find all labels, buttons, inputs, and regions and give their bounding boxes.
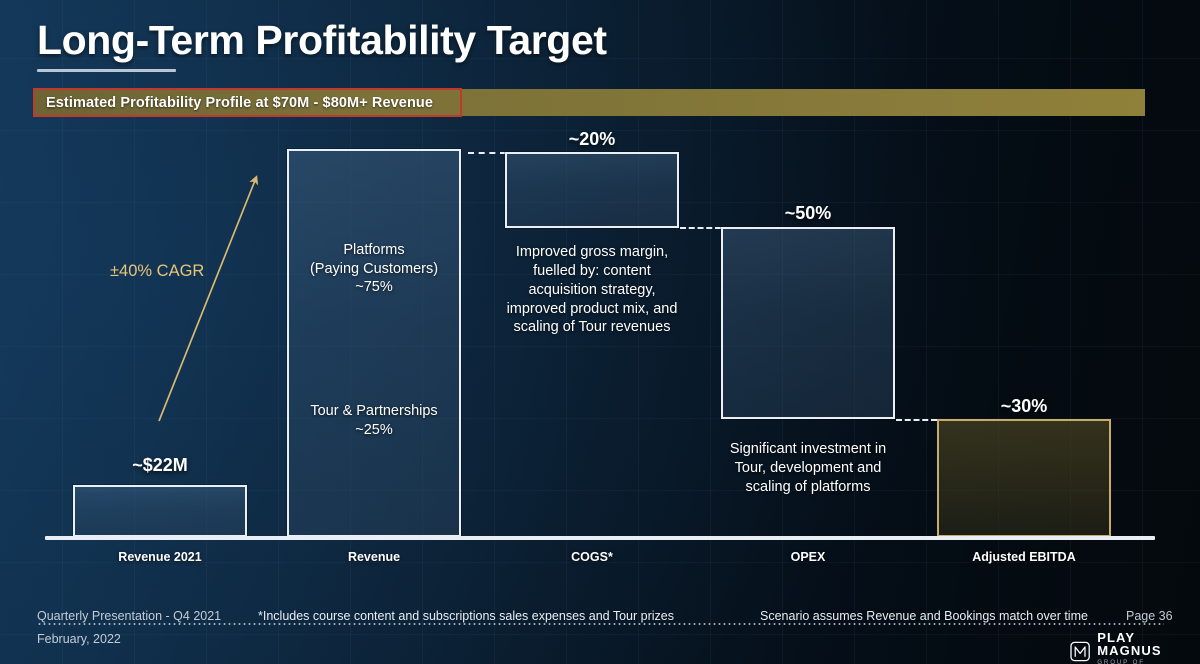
footer-deck-label: Quarterly Presentation - Q4 2021 [37, 609, 221, 623]
footer-scenario-note: Scenario assumes Revenue and Bookings ma… [760, 609, 1088, 623]
bar-value-opex: ~50% [721, 203, 895, 224]
xtick-revenue-2021: Revenue 2021 [73, 550, 247, 564]
segment-platforms-line2: (Paying Customers) [287, 260, 461, 279]
bar-opex[interactable] [721, 227, 895, 419]
magnus-m-icon [1070, 641, 1090, 662]
xtick-opex: OPEX [721, 550, 895, 564]
slide-canvas: Long-Term Profitability Target Estimated… [0, 0, 1200, 664]
segment-tour-value: ~25% [280, 421, 468, 440]
bar-value-ebitda: ~30% [937, 396, 1111, 417]
bar-revenue-2021[interactable] [73, 485, 247, 537]
note-opex: Significant investment in Tour, developm… [716, 440, 900, 497]
xtick-revenue: Revenue [287, 550, 461, 564]
banner-label: Estimated Profitability Profile at $70M … [46, 95, 433, 111]
bar-adjusted-ebitda[interactable] [937, 419, 1111, 537]
logo-wordmark: PLAY MAGNUS GROUP OF COMPANIES [1097, 631, 1200, 664]
title-underline [37, 69, 176, 72]
connector-cogs-to-opex [680, 227, 721, 229]
bar-segment-tour-partnerships: Tour & Partnerships ~25% [280, 402, 468, 439]
connector-opex-to-ebitda [896, 419, 937, 421]
note-cogs: Improved gross margin, fuelled by: conte… [497, 243, 687, 337]
footer-page-number: Page 36 [1126, 609, 1173, 623]
segment-platforms-line1: Platforms [287, 241, 461, 260]
connector-revenue-to-cogs [468, 152, 506, 154]
bar-segment-platforms: Platforms (Paying Customers) ~75% [287, 241, 461, 297]
play-magnus-logo: PLAY MAGNUS GROUP OF COMPANIES [1070, 631, 1200, 664]
bar-cogs[interactable] [505, 152, 679, 228]
cagr-label: ±40% CAGR [110, 262, 204, 281]
segment-tour-line1: Tour & Partnerships [280, 402, 468, 421]
bar-value-revenue-2021: ~$22M [73, 455, 247, 476]
footer-divider [37, 623, 1164, 625]
bar-revenue[interactable] [287, 149, 461, 537]
footer-footnote: *Includes course content and subscriptio… [258, 609, 674, 623]
bar-value-cogs: ~20% [505, 129, 679, 150]
page-title: Long-Term Profitability Target [37, 17, 607, 64]
chart-baseline-axis [45, 536, 1155, 540]
logo-name: PLAY MAGNUS [1097, 631, 1200, 657]
segment-platforms-value: ~75% [287, 278, 461, 297]
xtick-cogs: COGS* [505, 550, 679, 564]
footer-date-label: February, 2022 [37, 632, 121, 646]
logo-tagline: GROUP OF COMPANIES [1097, 660, 1200, 664]
xtick-adjusted-ebitda: Adjusted EBITDA [937, 550, 1111, 564]
